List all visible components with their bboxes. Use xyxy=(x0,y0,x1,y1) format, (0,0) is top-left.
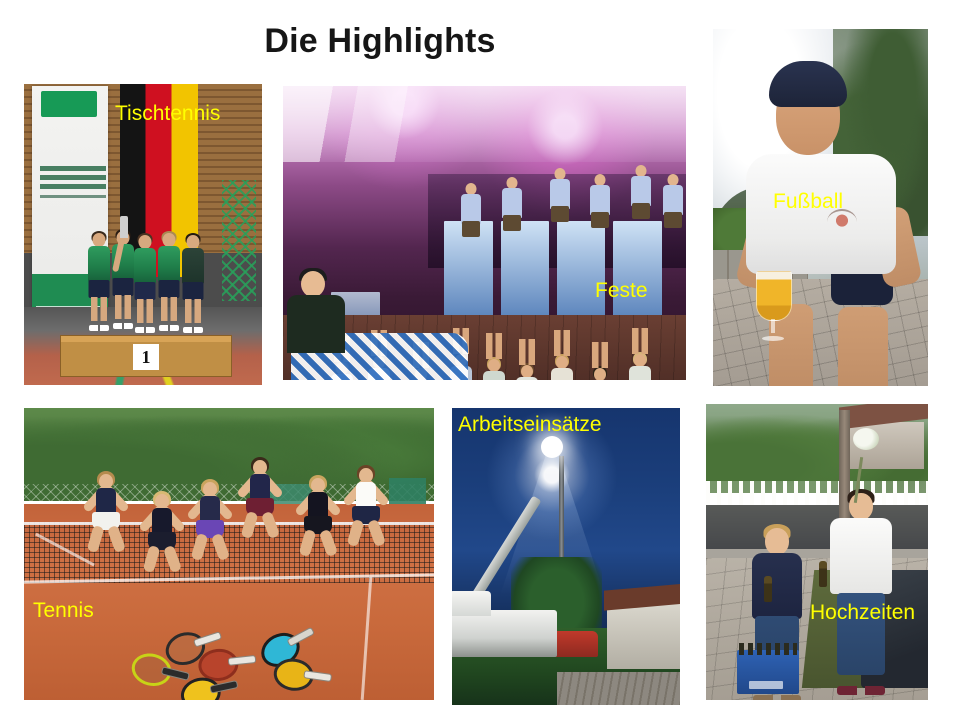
podium: 1 xyxy=(60,335,232,377)
caption-hochzeiten: Hochzeiten xyxy=(810,602,915,623)
photo-feste-image xyxy=(283,86,686,380)
caption-arbeitseinsaetze: Arbeitseinsätze xyxy=(458,414,602,435)
photo-arbeitseinsaetze[interactable]: Arbeitseinsätze xyxy=(452,408,680,705)
photo-hochzeiten[interactable]: Hochzeiten xyxy=(706,404,928,700)
photo-fussball[interactable]: Fußball xyxy=(713,29,928,386)
caption-tennis: Tennis xyxy=(33,600,94,621)
flower-branch xyxy=(853,428,879,450)
photo-tennis-image xyxy=(24,408,434,700)
trophy xyxy=(120,216,128,238)
crane-truck xyxy=(452,610,557,658)
photo-hochzeiten-image xyxy=(706,404,928,700)
beer-bottle xyxy=(819,561,827,587)
beer-bottle xyxy=(764,576,772,602)
caption-feste: Feste xyxy=(595,280,648,301)
photo-tennis[interactable]: Tennis xyxy=(24,408,434,700)
beer-crate xyxy=(737,650,799,694)
photo-feste[interactable]: Feste xyxy=(283,86,686,380)
white-shirt xyxy=(746,154,896,274)
slide-canvas: Die Highlights 1 Tischten xyxy=(0,0,960,720)
man-right xyxy=(830,493,892,689)
floodlight xyxy=(541,436,563,458)
red-car xyxy=(552,631,598,658)
beer-glass xyxy=(756,265,790,341)
seated-man xyxy=(287,271,345,351)
caption-fussball: Fußball xyxy=(773,191,843,212)
photo-tischtennis[interactable]: 1 Tischtennis xyxy=(24,84,262,385)
photo-arbeitseinsaetze-image xyxy=(452,408,680,705)
caption-tischtennis: Tischtennis xyxy=(115,103,220,124)
photo-tischtennis-image: 1 xyxy=(24,84,262,385)
page-title: Die Highlights xyxy=(0,22,760,61)
